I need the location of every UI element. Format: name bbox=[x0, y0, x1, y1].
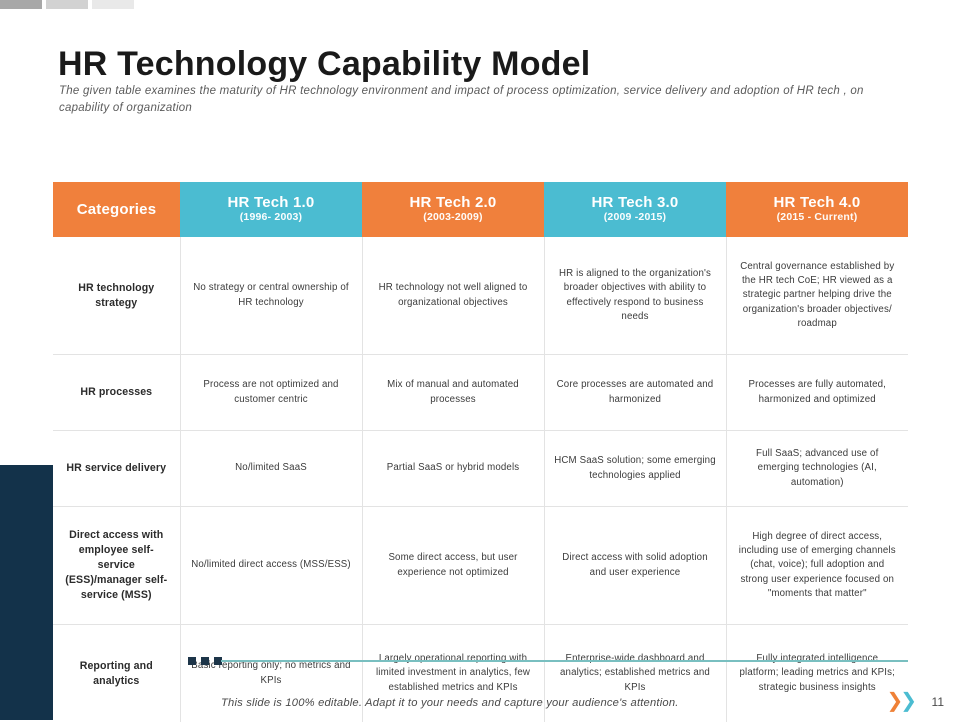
cell-r4-c4: Fully integrated intelligence platform; … bbox=[726, 625, 908, 722]
column-header-hr-tech-3-title: HR Tech 3.0 bbox=[550, 194, 720, 211]
column-header-hr-tech-3[interactable]: HR Tech 3.0 (2009 -2015) bbox=[544, 182, 726, 237]
page-title: HR Technology Capability Model bbox=[58, 45, 590, 84]
cell-r1-c4: Processes are fully automated, harmonize… bbox=[726, 355, 908, 431]
chevron-right-teal-icon: ❯ bbox=[900, 688, 914, 712]
capability-model-table: Categories HR Tech 1.0 (1996- 2003) HR T… bbox=[53, 182, 908, 722]
table-body: HR technology strategy No strategy or ce… bbox=[53, 237, 908, 722]
cell-r1-c1: Process are not optimized and customer c… bbox=[180, 355, 362, 431]
footer-dots-decor bbox=[188, 657, 222, 665]
column-header-hr-tech-3-years: (2009 -2015) bbox=[550, 211, 720, 225]
cell-r2-c4: Full SaaS; advanced use of emerging tech… bbox=[726, 431, 908, 507]
column-header-hr-tech-4[interactable]: HR Tech 4.0 (2015 - Current) bbox=[726, 182, 908, 237]
column-header-hr-tech-4-years: (2015 - Current) bbox=[732, 211, 902, 225]
footer-chevrons-decor: ❯❯ bbox=[886, 690, 914, 710]
row-label-reporting-and-analytics: Reporting and analytics bbox=[53, 625, 180, 722]
column-header-hr-tech-1-title: HR Tech 1.0 bbox=[186, 194, 356, 211]
column-header-hr-tech-1-years: (1996- 2003) bbox=[186, 211, 356, 225]
cell-r1-c2: Mix of manual and automated processes bbox=[362, 355, 544, 431]
table-header: Categories HR Tech 1.0 (1996- 2003) HR T… bbox=[53, 182, 908, 237]
row-label-hr-processes: HR processes bbox=[53, 355, 180, 431]
cell-r0-c3: HR is aligned to the organization's broa… bbox=[544, 237, 726, 355]
top-decor-bars bbox=[0, 0, 134, 9]
cell-r1-c3: Core processes are automated and harmoni… bbox=[544, 355, 726, 431]
footer-editable-note: This slide is 100% editable. Adapt it to… bbox=[221, 697, 679, 709]
cell-r3-c4: High degree of direct access, including … bbox=[726, 507, 908, 625]
page-number: 11 bbox=[932, 695, 944, 709]
cell-r3-c3: Direct access with solid adoption and us… bbox=[544, 507, 726, 625]
table-row: HR technology strategy No strategy or ce… bbox=[53, 237, 908, 355]
row-label-hr-technology-strategy: HR technology strategy bbox=[53, 237, 180, 355]
column-header-categories[interactable]: Categories bbox=[53, 182, 180, 237]
cell-r2-c1: No/limited SaaS bbox=[180, 431, 362, 507]
table-row: Direct access with employee self-service… bbox=[53, 507, 908, 625]
table-header-row: Categories HR Tech 1.0 (1996- 2003) HR T… bbox=[53, 182, 908, 237]
chevron-right-orange-icon: ❯ bbox=[886, 688, 900, 712]
row-label-direct-access: Direct access with employee self-service… bbox=[53, 507, 180, 625]
cell-r0-c1: No strategy or central ownership of HR t… bbox=[180, 237, 362, 355]
column-header-hr-tech-2-title: HR Tech 2.0 bbox=[368, 194, 538, 211]
capability-table-wrapper: Categories HR Tech 1.0 (1996- 2003) HR T… bbox=[53, 182, 908, 722]
footer-dot-1 bbox=[188, 657, 196, 665]
footer-divider-line bbox=[221, 660, 908, 662]
column-header-hr-tech-1[interactable]: HR Tech 1.0 (1996- 2003) bbox=[180, 182, 362, 237]
slide-canvas: ❯❯❯❯❯❯ HR Technology Capability Model Th… bbox=[0, 0, 960, 720]
top-decor-bar-3 bbox=[92, 0, 134, 9]
top-decor-bar-1 bbox=[0, 0, 42, 9]
cell-r2-c3: HCM SaaS solution; some emerging technol… bbox=[544, 431, 726, 507]
column-header-hr-tech-2-years: (2003-2009) bbox=[368, 211, 538, 225]
column-header-categories-title: Categories bbox=[59, 201, 174, 218]
row-label-hr-service-delivery: HR service delivery bbox=[53, 431, 180, 507]
top-decor-bar-2 bbox=[46, 0, 88, 9]
cell-r0-c2: HR technology not well aligned to organi… bbox=[362, 237, 544, 355]
cell-r3-c2: Some direct access, but user experience … bbox=[362, 507, 544, 625]
cell-r0-c4: Central governance established by the HR… bbox=[726, 237, 908, 355]
footer-dot-2 bbox=[201, 657, 209, 665]
column-header-hr-tech-4-title: HR Tech 4.0 bbox=[732, 194, 902, 211]
cell-r3-c1: No/limited direct access (MSS/ESS) bbox=[180, 507, 362, 625]
table-row: HR service delivery No/limited SaaS Part… bbox=[53, 431, 908, 507]
page-subtitle: The given table examines the maturity of… bbox=[59, 83, 899, 118]
cell-r2-c2: Partial SaaS or hybrid models bbox=[362, 431, 544, 507]
column-header-hr-tech-2[interactable]: HR Tech 2.0 (2003-2009) bbox=[362, 182, 544, 237]
table-row: HR processes Process are not optimized a… bbox=[53, 355, 908, 431]
